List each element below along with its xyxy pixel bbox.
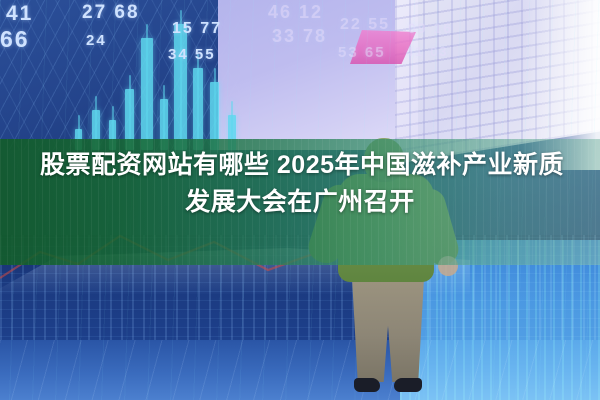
person-left-shoe [354,378,380,392]
person-right-shoe [394,378,422,392]
person-legs [352,278,424,382]
headline-line-1: 股票配资网站有哪些 2025年中国滋补产业新质 [36,150,564,181]
article-cover-image: 416627 682415 7734 5546 1233 7822 5553 6… [0,0,600,400]
headline-block: 股票配资网站有哪些 2025年中国滋补产业新质 发展大会在广州召开 [0,150,600,260]
headline-line-2: 发展大会在广州召开 [185,187,415,218]
